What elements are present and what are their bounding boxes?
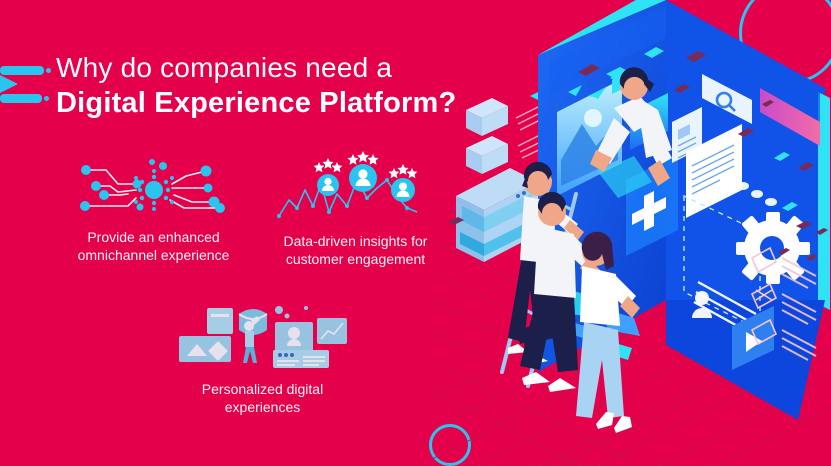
digital-experience-icon (175, 300, 350, 370)
feature-caption-line2: experiences (160, 398, 365, 416)
gear-icon (736, 212, 810, 284)
rating-chart-icon (271, 150, 441, 222)
title-line-2: Digital Experience Platform? (56, 86, 486, 120)
network-nodes-icon (74, 158, 234, 218)
arrow-chevron-icon (0, 60, 50, 108)
feature-caption-line1: Personalized digital (160, 380, 365, 398)
isometric-team-building-platform (430, 0, 831, 466)
infographic-canvas: Why do companies need a Digital Experien… (0, 0, 831, 466)
page-title: Why do companies need a Digital Experien… (56, 52, 486, 120)
feature-caption-line1: Provide an enhanced (36, 228, 271, 246)
feature-caption-line1: Data-driven insights for (258, 232, 453, 250)
feature-insights: Data-driven insights for customer engage… (258, 150, 453, 268)
feature-caption-line2: omnichannel experience (36, 246, 271, 264)
feature-personalized: Personalized digital experiences (160, 300, 365, 416)
feature-omnichannel: Provide an enhanced omnichannel experien… (36, 158, 271, 264)
title-line-1: Why do companies need a (56, 52, 486, 84)
feature-caption-line2: customer engagement (258, 250, 453, 268)
